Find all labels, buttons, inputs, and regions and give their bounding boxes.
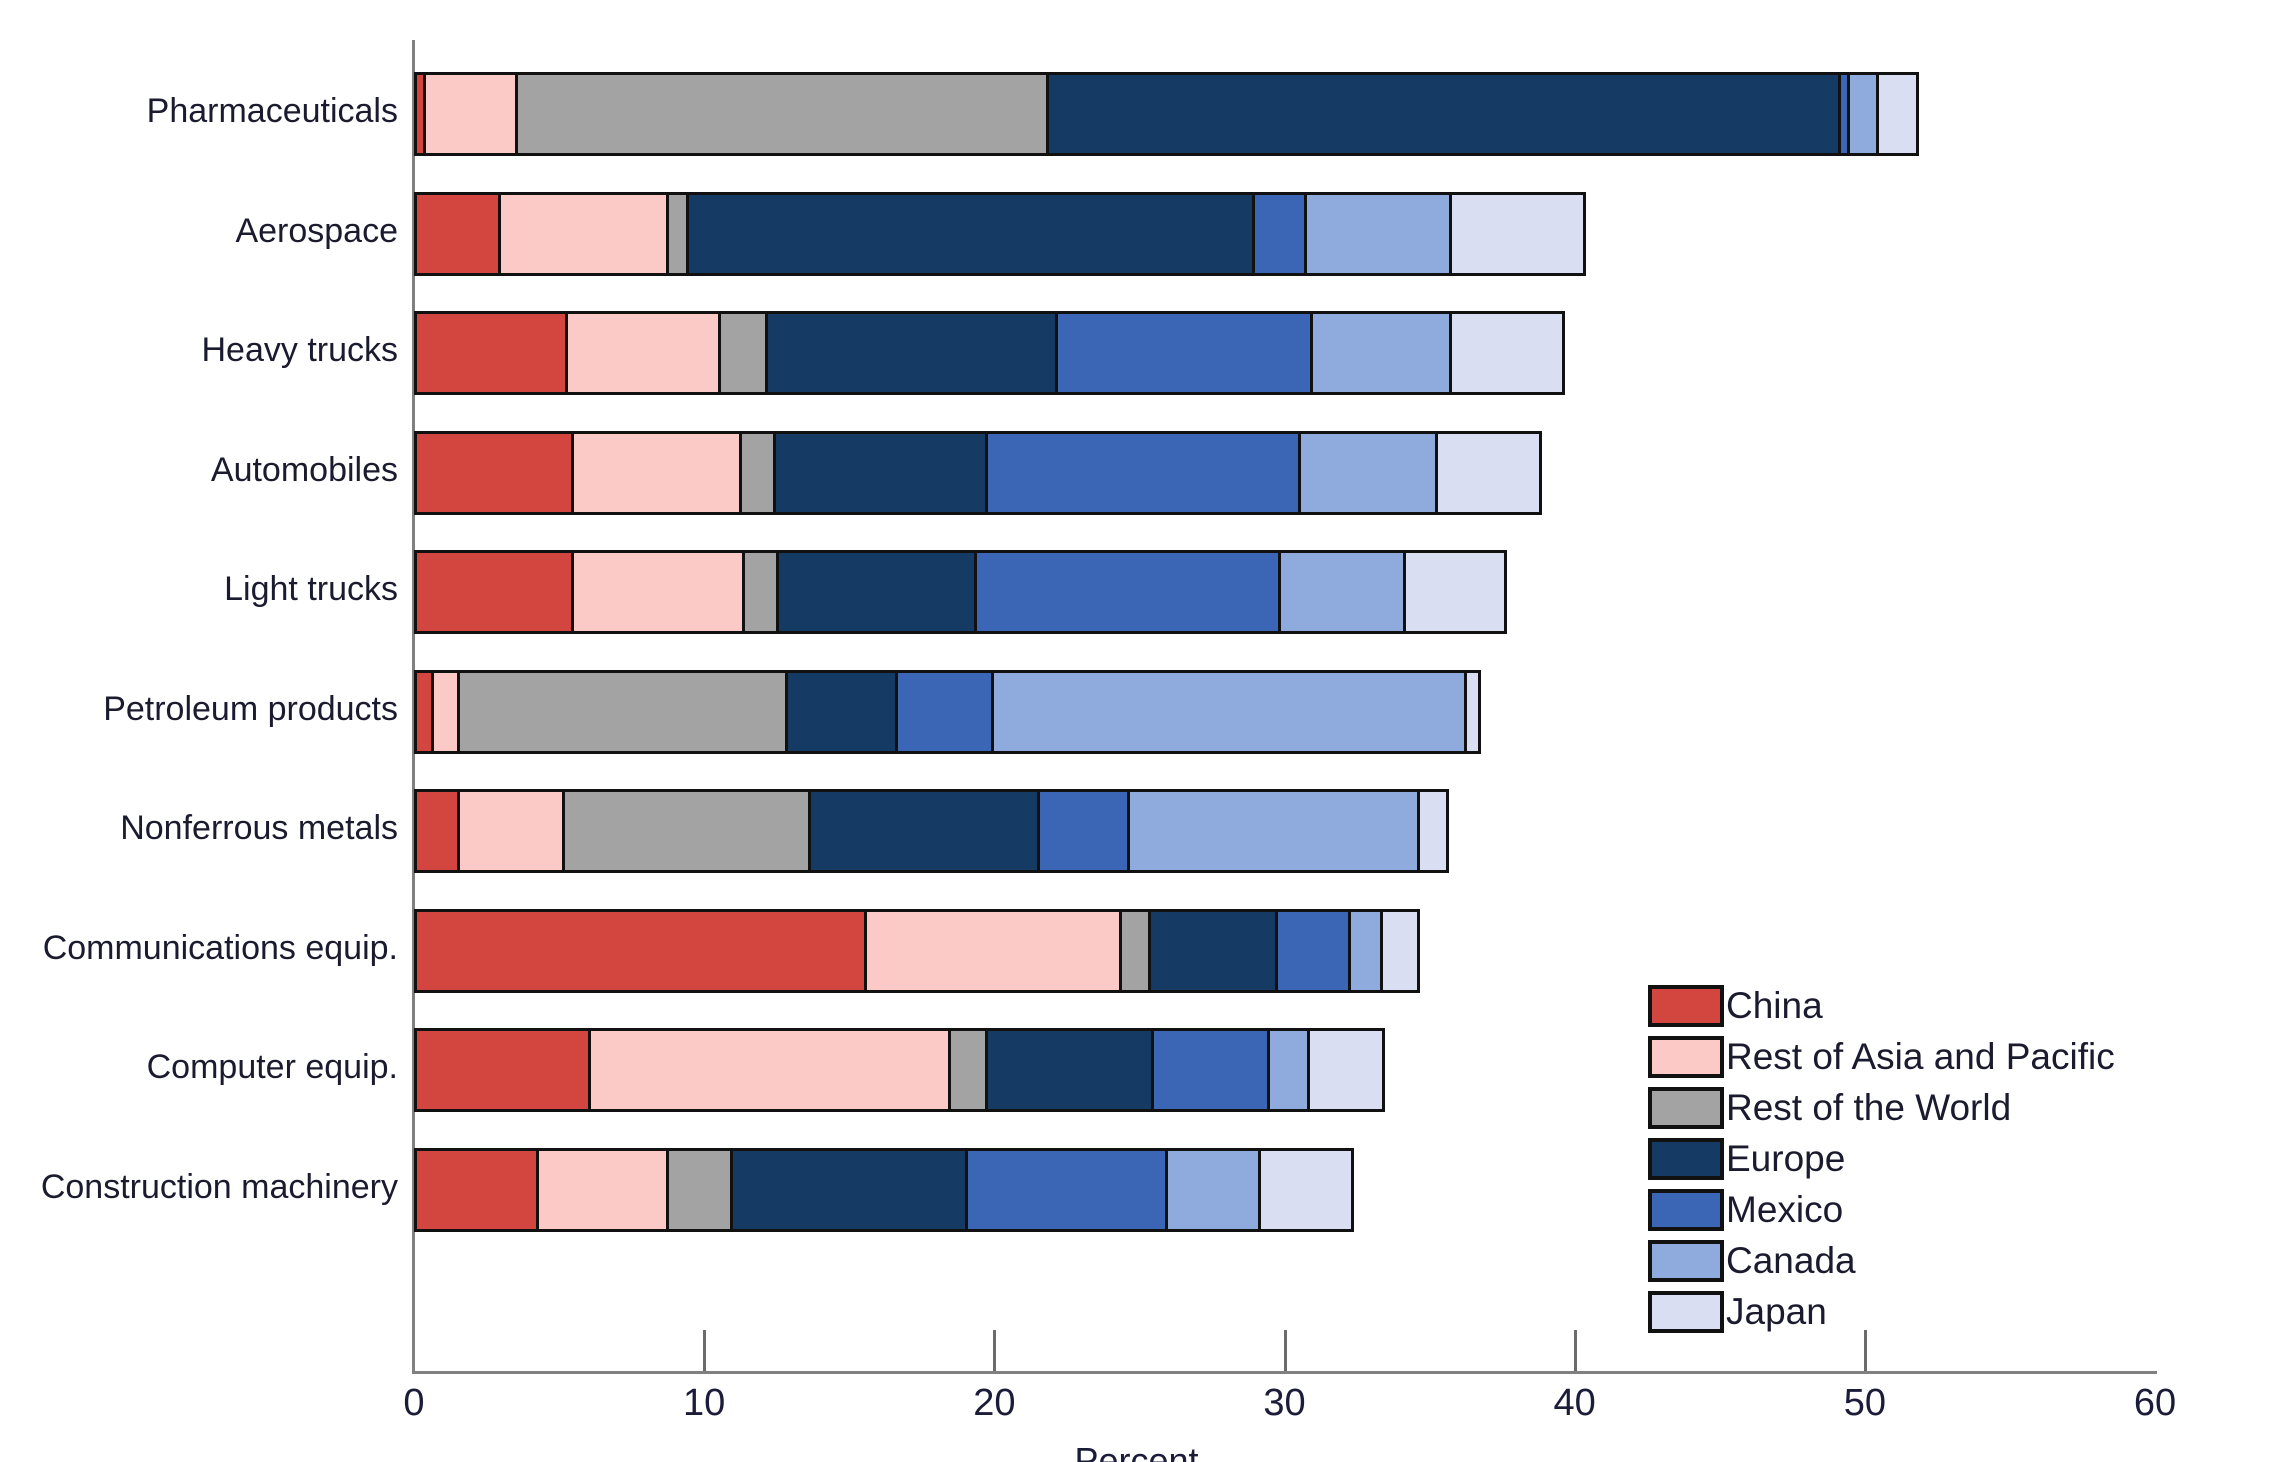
stacked-bar-chart: PharmaceuticalsAerospaceHeavy trucksAuto… xyxy=(0,0,2273,1462)
bar-segment-japan[interactable] xyxy=(1449,192,1585,276)
bar-segment-canada[interactable] xyxy=(1310,311,1452,395)
legend-swatch-canada xyxy=(1648,1240,1724,1282)
bar-segment-canada[interactable] xyxy=(1267,1028,1311,1112)
legend-item[interactable]: China xyxy=(1648,980,2115,1031)
legend-label: Rest of Asia and Pacific xyxy=(1726,1038,2115,1075)
bar-segment-rest-of-asia-and-pacific[interactable] xyxy=(431,670,460,754)
bar-row[interactable] xyxy=(414,1148,1354,1232)
bar-row[interactable] xyxy=(414,909,1420,993)
bar-segment-europe[interactable] xyxy=(765,311,1058,395)
x-tick-label: 60 xyxy=(2134,1382,2176,1425)
bar-segment-rest-of-the-world[interactable] xyxy=(742,550,780,634)
bar-segment-europe[interactable] xyxy=(808,789,1040,873)
bar-segment-rest-of-the-world[interactable] xyxy=(515,72,1049,156)
bar-segment-mexico[interactable] xyxy=(1055,311,1313,395)
legend-label: China xyxy=(1726,987,1823,1024)
x-tick-label: 0 xyxy=(403,1382,424,1425)
legend-item[interactable]: Rest of Asia and Pacific xyxy=(1648,1031,2115,1082)
bar-segment-rest-of-the-world[interactable] xyxy=(562,789,812,873)
legend-swatch-mexico xyxy=(1648,1189,1724,1231)
x-tick-label: 40 xyxy=(1554,1382,1596,1425)
legend-swatch-europe xyxy=(1648,1138,1724,1180)
bar-segment-china[interactable] xyxy=(414,789,460,873)
legend-label: Europe xyxy=(1726,1140,1845,1177)
bar-segment-rest-of-asia-and-pacific[interactable] xyxy=(457,789,564,873)
bar-segment-rest-of-the-world[interactable] xyxy=(457,670,788,754)
bar-segment-mexico[interactable] xyxy=(1151,1028,1270,1112)
bar-segment-rest-of-asia-and-pacific[interactable] xyxy=(588,1028,951,1112)
bar-segment-canada[interactable] xyxy=(1127,789,1420,873)
bar-segment-rest-of-asia-and-pacific[interactable] xyxy=(864,909,1122,993)
legend-swatch-rest-of-asia-and-pacific xyxy=(1648,1036,1724,1078)
category-label: Heavy trucks xyxy=(202,331,399,370)
bar-segment-japan[interactable] xyxy=(1449,311,1565,395)
category-label: Petroleum products xyxy=(103,690,398,729)
category-label: Construction machinery xyxy=(41,1168,398,1207)
bar-segment-mexico[interactable] xyxy=(1037,789,1130,873)
bar-segment-rest-of-the-world[interactable] xyxy=(948,1028,989,1112)
x-axis-line xyxy=(412,1371,2157,1374)
x-tick-label: 50 xyxy=(1844,1382,1886,1425)
bar-segment-europe[interactable] xyxy=(773,431,988,515)
bar-segment-mexico[interactable] xyxy=(1275,909,1350,993)
bar-row[interactable] xyxy=(414,789,1449,873)
bar-segment-europe[interactable] xyxy=(1148,909,1279,993)
bar-segment-china[interactable] xyxy=(414,431,574,515)
legend-label: Rest of the World xyxy=(1726,1089,2011,1126)
bar-segment-rest-of-the-world[interactable] xyxy=(666,192,689,276)
bar-segment-rest-of-the-world[interactable] xyxy=(718,311,767,395)
category-label: Computer equip. xyxy=(147,1048,398,1087)
bar-segment-rest-of-asia-and-pacific[interactable] xyxy=(571,431,742,515)
bar-segment-mexico[interactable] xyxy=(895,670,994,754)
bar-segment-rest-of-the-world[interactable] xyxy=(739,431,777,515)
x-tick xyxy=(703,1330,706,1371)
legend-swatch-china xyxy=(1648,985,1724,1027)
legend-item[interactable]: Europe xyxy=(1648,1133,2115,1184)
bar-segment-canada[interactable] xyxy=(1304,192,1452,276)
x-tick-label: 20 xyxy=(973,1382,1015,1425)
bar-segment-rest-of-asia-and-pacific[interactable] xyxy=(571,550,745,634)
bar-segment-china[interactable] xyxy=(414,909,867,993)
bar-segment-mexico[interactable] xyxy=(985,431,1301,515)
category-label: Nonferrous metals xyxy=(120,809,398,848)
bar-segment-rest-of-asia-and-pacific[interactable] xyxy=(536,1148,669,1232)
bar-segment-rest-of-asia-and-pacific[interactable] xyxy=(565,311,722,395)
category-label: Automobiles xyxy=(211,451,398,490)
legend-item[interactable]: Japan xyxy=(1648,1286,2115,1337)
category-label: Pharmaceuticals xyxy=(147,92,398,131)
x-tick xyxy=(1574,1330,1577,1371)
bar-segment-europe[interactable] xyxy=(776,550,976,634)
bar-segment-mexico[interactable] xyxy=(965,1148,1168,1232)
bar-row[interactable] xyxy=(414,311,1565,395)
bar-row[interactable] xyxy=(414,550,1507,634)
bar-row[interactable] xyxy=(414,1028,1385,1112)
bar-segment-canada[interactable] xyxy=(1298,431,1437,515)
legend-item[interactable]: Mexico xyxy=(1648,1184,2115,1235)
category-label: Communications equip. xyxy=(43,929,398,968)
bar-segment-japan[interactable] xyxy=(1258,1148,1354,1232)
bar-segment-japan[interactable] xyxy=(1435,431,1542,515)
bar-segment-europe[interactable] xyxy=(985,1028,1153,1112)
x-tick xyxy=(993,1330,996,1371)
bar-row[interactable] xyxy=(414,670,1481,754)
x-axis-title: Percent xyxy=(0,1440,2273,1462)
bar-segment-canada[interactable] xyxy=(1847,72,1879,156)
bar-segment-china[interactable] xyxy=(414,72,426,156)
category-label: Light trucks xyxy=(224,570,398,609)
bar-segment-rest-of-the-world[interactable] xyxy=(666,1148,733,1232)
legend-label: Canada xyxy=(1726,1242,1856,1279)
bar-segment-canada[interactable] xyxy=(1278,550,1406,634)
bar-segment-rest-of-asia-and-pacific[interactable] xyxy=(423,72,519,156)
bar-row[interactable] xyxy=(414,431,1542,515)
bar-segment-rest-of-the-world[interactable] xyxy=(1119,909,1151,993)
bar-segment-china[interactable] xyxy=(414,550,574,634)
x-tick-label: 10 xyxy=(683,1382,725,1425)
bar-segment-japan[interactable] xyxy=(1403,550,1507,634)
bar-segment-japan[interactable] xyxy=(1307,1028,1385,1112)
bar-row[interactable] xyxy=(414,72,1919,156)
bar-segment-japan[interactable] xyxy=(1380,909,1421,993)
bar-segment-canada[interactable] xyxy=(1165,1148,1261,1232)
bar-segment-europe[interactable] xyxy=(785,670,898,754)
bar-segment-mexico[interactable] xyxy=(1252,192,1307,276)
bar-segment-japan[interactable] xyxy=(1876,72,1920,156)
bar-segment-mexico[interactable] xyxy=(974,550,1282,634)
legend-item[interactable]: Rest of the World xyxy=(1648,1082,2115,1133)
x-tick-label: 30 xyxy=(1263,1382,1305,1425)
bar-segment-japan[interactable] xyxy=(1417,789,1449,873)
bar-segment-canada[interactable] xyxy=(1348,909,1383,993)
legend-swatch-japan xyxy=(1648,1291,1724,1333)
bar-segment-china[interactable] xyxy=(414,1148,539,1232)
legend-label: Mexico xyxy=(1726,1191,1843,1228)
legend-label: Japan xyxy=(1726,1293,1827,1330)
bar-row[interactable] xyxy=(414,192,1586,276)
bar-segment-canada[interactable] xyxy=(991,670,1467,754)
bar-segment-europe[interactable] xyxy=(686,192,1255,276)
legend-swatch-rest-of-the-world xyxy=(1648,1087,1724,1129)
bar-segment-china[interactable] xyxy=(414,311,568,395)
bar-segment-china[interactable] xyxy=(414,1028,591,1112)
legend: ChinaRest of Asia and PacificRest of the… xyxy=(1648,980,2115,1337)
bar-segment-china[interactable] xyxy=(414,670,434,754)
category-label: Aerospace xyxy=(235,212,398,251)
legend-item[interactable]: Canada xyxy=(1648,1235,2115,1286)
bar-segment-europe[interactable] xyxy=(1046,72,1841,156)
x-tick xyxy=(1284,1330,1287,1371)
bar-segment-europe[interactable] xyxy=(730,1148,968,1232)
bar-segment-rest-of-asia-and-pacific[interactable] xyxy=(498,192,669,276)
bar-segment-china[interactable] xyxy=(414,192,501,276)
